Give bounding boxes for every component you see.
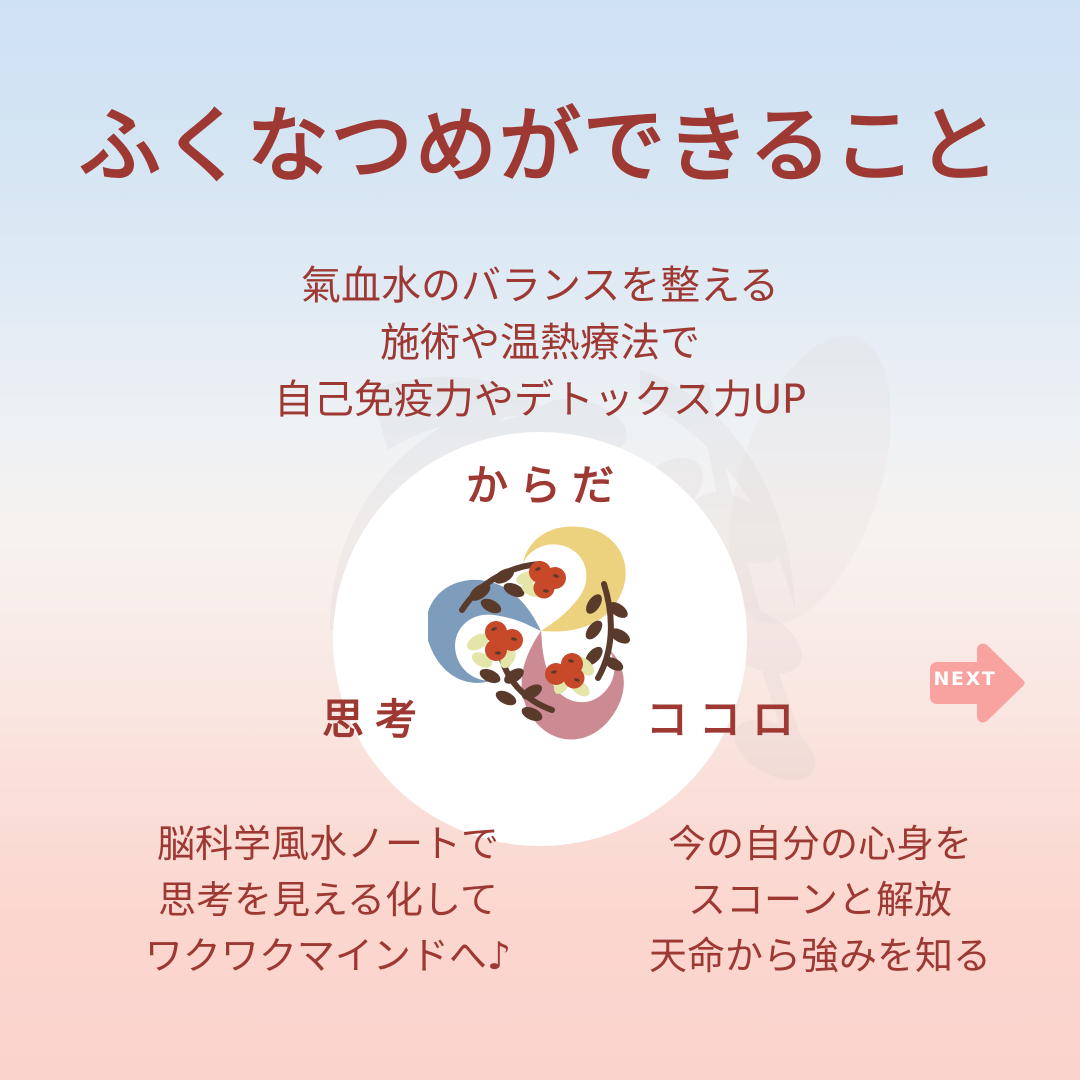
emblem-label-kokoro: ココロ bbox=[646, 686, 805, 747]
bottom-left-line-1: 脳科学風水ノートで bbox=[78, 816, 578, 872]
emblem-label-karada: からだ bbox=[0, 452, 1080, 513]
bottom-right-line-1: 今の自分の心身を bbox=[570, 816, 1070, 872]
page-title: ふくなつめができること bbox=[0, 104, 1080, 190]
next-button[interactable] bbox=[922, 641, 1026, 725]
subtitle-block: 氣血水のバランスを整える 施術や温熱療法で 自己免疫力やデトックス力UP bbox=[0, 258, 1080, 428]
emblem-label-shikou: 思考 bbox=[322, 686, 428, 747]
subtitle-line-2: 施術や温熱療法で bbox=[0, 315, 1080, 372]
bottom-left-line-2: 思考を見える化して bbox=[78, 872, 578, 928]
subtitle-line-1: 氣血水のバランスを整える bbox=[0, 258, 1080, 315]
bottom-right-text-block: 今の自分の心身を スコーンと解放 天命から強みを知る bbox=[570, 816, 1070, 985]
bottom-left-text-block: 脳科学風水ノートで 思考を見える化して ワクワクマインドへ♪ bbox=[78, 816, 578, 985]
bottom-right-line-3: 天命から強みを知る bbox=[570, 928, 1070, 984]
slide-canvas: ふくなつめができること 氣血水のバランスを整える 施術や温熱療法で 自己免疫力や… bbox=[0, 0, 1080, 1080]
bottom-right-line-2: スコーンと解放 bbox=[570, 872, 1070, 928]
subtitle-line-3: 自己免疫力やデトックス力UP bbox=[0, 372, 1080, 429]
mitsudomoe-emblem-icon bbox=[428, 518, 654, 744]
bottom-left-line-3: ワクワクマインドへ♪ bbox=[78, 928, 578, 984]
